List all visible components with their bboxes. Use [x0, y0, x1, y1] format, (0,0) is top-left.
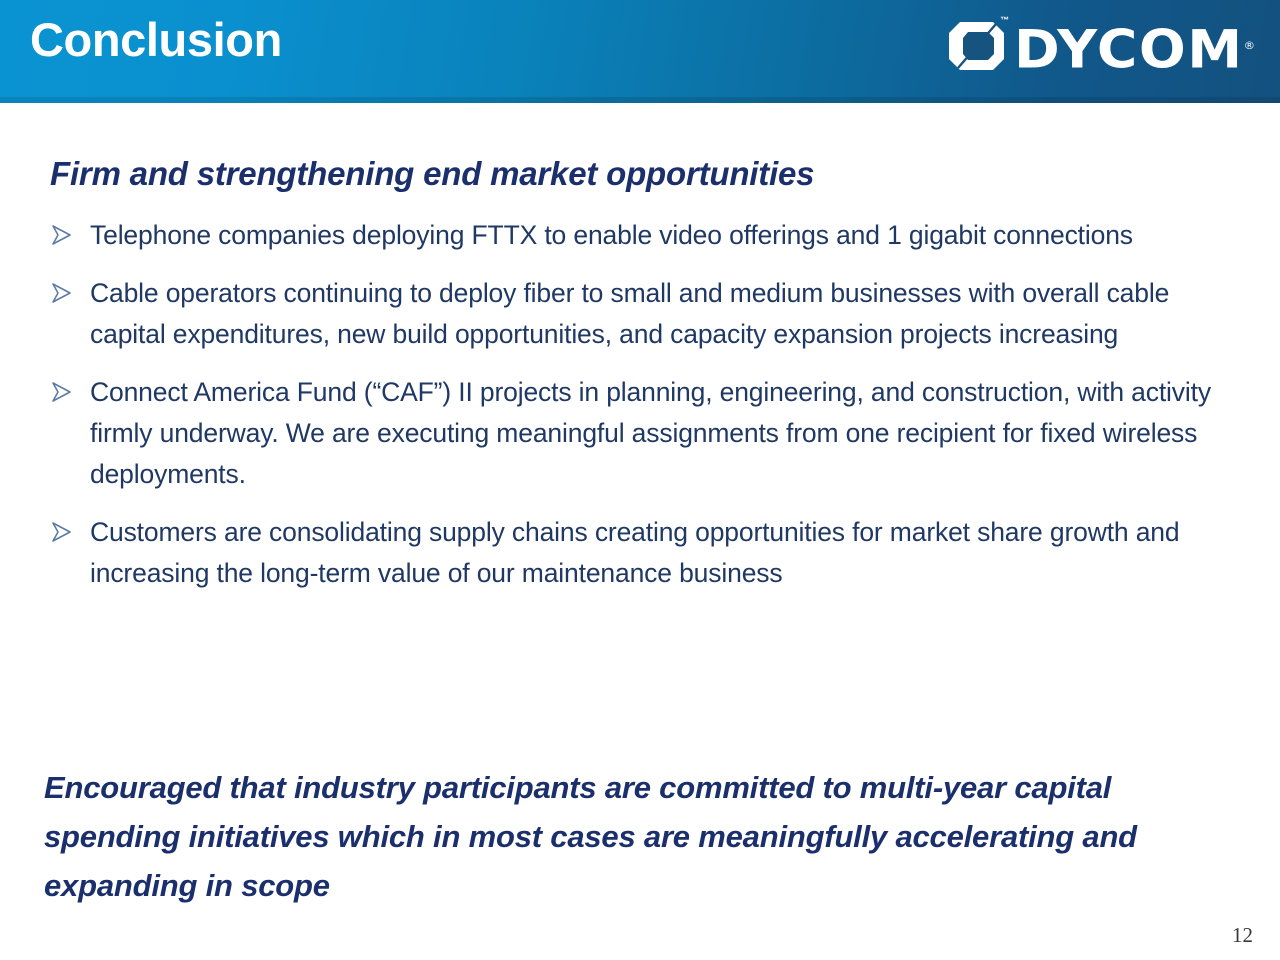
list-item: Telephone companies deploying FTTX to en…	[48, 215, 1228, 256]
chevron-arrow-icon	[50, 282, 74, 304]
list-item: Cable operators continuing to deploy fib…	[48, 273, 1228, 355]
list-item: Connect America Fund (“CAF”) II projects…	[48, 372, 1228, 495]
slide-body: Firm and strengthening end market opport…	[0, 103, 1280, 960]
closing-statement: Encouraged that industry participants ar…	[44, 763, 1194, 910]
chevron-arrow-icon	[50, 381, 74, 403]
list-item: Customers are consolidating supply chain…	[48, 512, 1228, 594]
dycom-wordmark-text: DYCOM	[1014, 20, 1244, 81]
dycom-wordmark: DYCOM®	[1014, 18, 1255, 79]
trademark-icon: ™	[1000, 16, 1009, 25]
dycom-d-mark-icon: ™	[946, 18, 1008, 74]
lead-heading: Firm and strengthening end market opport…	[50, 155, 814, 193]
page-number: 12	[1232, 923, 1253, 948]
slide-header: Conclusion ™ DYCOM®	[0, 0, 1280, 103]
list-item-text: Connect America Fund (“CAF”) II projects…	[90, 377, 1211, 489]
page-title: Conclusion	[30, 14, 282, 66]
registered-icon: ®	[1244, 39, 1255, 52]
dycom-logo: ™ DYCOM®	[946, 18, 1246, 84]
chevron-arrow-icon	[50, 224, 74, 246]
list-item-text: Telephone companies deploying FTTX to en…	[90, 220, 1133, 250]
list-item-text: Cable operators continuing to deploy fib…	[90, 278, 1169, 349]
bullet-list: Telephone companies deploying FTTX to en…	[48, 215, 1228, 611]
chevron-arrow-icon	[50, 521, 74, 543]
list-item-text: Customers are consolidating supply chain…	[90, 517, 1179, 588]
